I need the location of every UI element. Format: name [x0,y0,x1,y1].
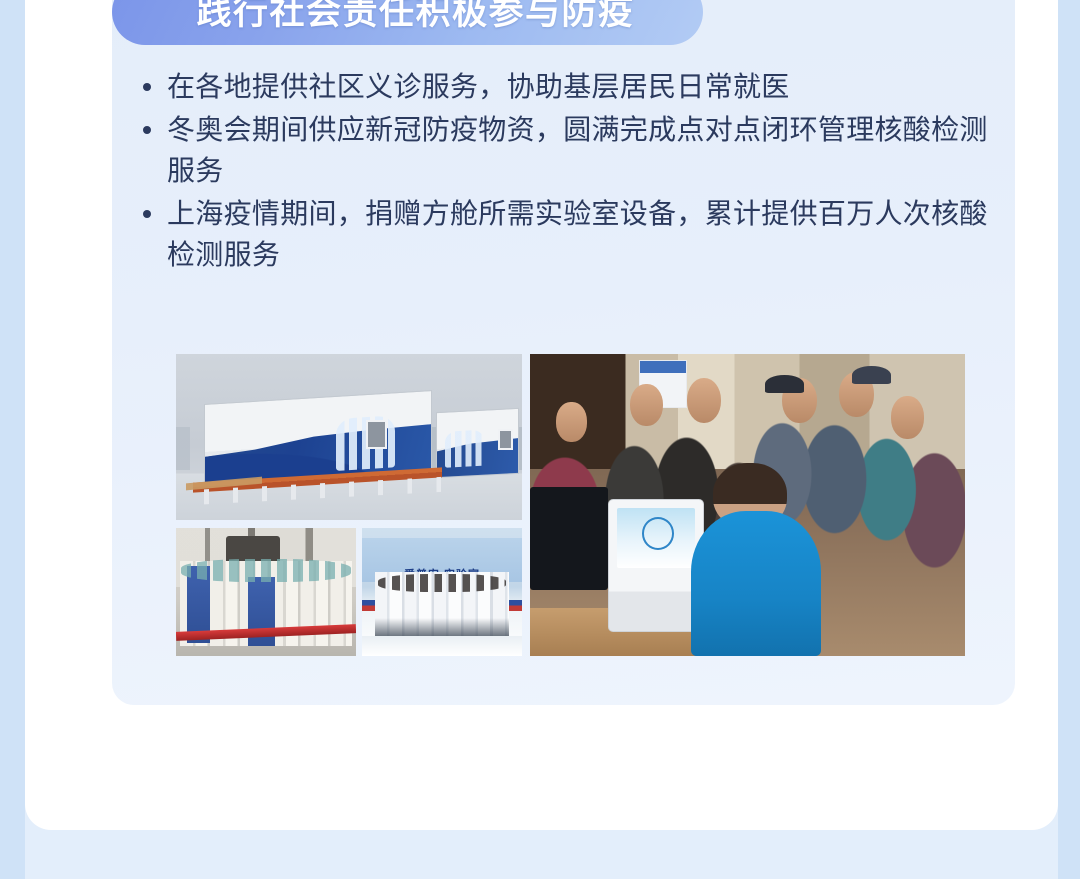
page-root: 践行社会责任积极参与防疫 在各地提供社区义诊服务，协助基层居民日常就医 冬奥会期… [0,0,1080,879]
photo-mobile-lab [176,354,522,520]
ppe-face-shields [181,559,350,582]
clinic-device-screen [617,508,696,568]
clinic-cap [765,375,804,393]
lab-window [366,420,387,448]
lab-window [498,429,514,451]
clinic-monitor [530,487,608,590]
left-edge-stripe [0,0,25,879]
photo-column-left: 爱普安 实验室 [176,354,522,656]
photo-gallery: 爱普安 实验室 [176,354,965,656]
section-title-badge: 践行社会责任积极参与防疫 [112,0,703,45]
bullet-dot-icon [143,83,151,91]
snow-group-heads [378,574,506,592]
white-sheet: 践行社会责任积极参与防疫 在各地提供社区义诊服务，协助基层居民日常就医 冬奥会期… [25,0,1058,830]
list-item: 冬奥会期间供应新冠防疫物资，圆满完成点对点闭环管理核酸检测服务 [143,109,1003,191]
snow-ground [362,636,522,656]
photo-snow-group: 爱普安 实验室 [362,528,522,656]
list-item: 上海疫情期间，捐赠方舱所需实验室设备，累计提供百万人次核酸检测服务 [143,193,1003,275]
clinic-resident-head [630,384,663,426]
bullet-text: 冬奥会期间供应新冠防疫物资，圆满完成点对点闭环管理核酸检测服务 [167,109,1003,191]
bullet-text: 上海疫情期间，捐赠方舱所需实验室设备，累计提供百万人次核酸检测服务 [167,193,1003,275]
page-title: 践行社会责任积极参与防疫 [196,0,634,30]
list-item: 在各地提供社区义诊服务，协助基层居民日常就医 [143,66,1003,107]
bullet-list: 在各地提供社区义诊服务，协助基层居民日常就医 冬奥会期间供应新冠防疫物资，圆满完… [143,66,1003,277]
clinic-staff-blue-jacket [691,511,822,656]
bullet-dot-icon [143,126,151,134]
right-edge-stripe [1058,0,1080,879]
clinic-cap [852,366,891,384]
photo-ppe-team [176,528,356,656]
photo-community-clinic [530,354,965,656]
photo-row-bottom: 爱普安 实验室 [176,528,522,656]
bullet-text: 在各地提供社区义诊服务，协助基层居民日常就医 [167,66,1003,107]
clinic-resident-head [556,402,586,441]
clinic-resident-head [891,396,924,438]
clinic-testing-device [608,499,704,632]
bullet-dot-icon [143,210,151,218]
